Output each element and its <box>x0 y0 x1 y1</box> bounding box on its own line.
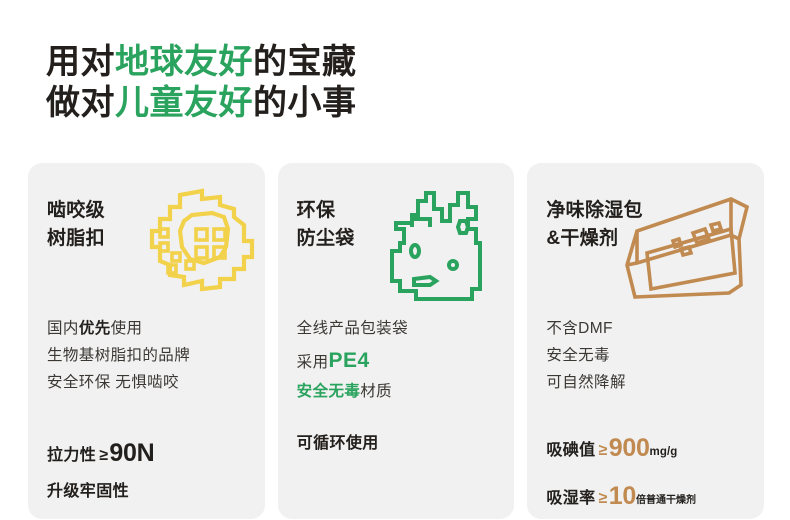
card-1-title: 啮咬级 树脂扣 <box>47 197 105 252</box>
headline-line-1-part-3: 的宝藏 <box>253 43 357 81</box>
card-2-body: 全线产品包装袋 采用PE4 安全无毒材质 <box>297 316 505 406</box>
card-3-stat-row-2: 吸湿率≥10倍普通干燥剂 <box>546 473 754 520</box>
card-3-stat-2-unit: 倍普通干燥剂 <box>636 495 696 506</box>
card-3-body-line-1: 不含DMF <box>546 316 754 343</box>
card-3-stat-2-label: 吸湿率 <box>546 490 595 507</box>
card-3-stat-1-value: 900 <box>609 434 650 462</box>
card-1-stat-value: 90N <box>109 439 154 467</box>
eco-dust-bag-icon <box>356 181 496 318</box>
card-1-body-line-2: 生物基树脂扣的品牌 <box>47 343 255 370</box>
card-1-title-line-2: 树脂扣 <box>47 225 105 253</box>
feature-card-row: 啮咬级 树脂扣 国内优先使用 生物基树脂扣的品牌 安全环保 无惧啮咬 拉力性≥9… <box>28 163 764 519</box>
card-1-body-line-1: 国内优先使用 <box>47 316 255 343</box>
card-3-body: 不含DMF 安全无毒 可自然降解 <box>546 316 754 396</box>
card-2-line-2-seg-1: 采用 <box>297 354 329 371</box>
card-2-material-code: PE4 <box>328 349 369 372</box>
card-1-stat-ge: ≥ <box>99 447 108 464</box>
feature-card-resin-buckle: 啮咬级 树脂扣 国内优先使用 生物基树脂扣的品牌 安全环保 无惧啮咬 拉力性≥9… <box>28 163 265 519</box>
card-2-title-line-1: 环保 <box>297 197 355 225</box>
card-3-title-line-2: &干燥剂 <box>546 225 643 253</box>
feature-card-dehumidifier: 净味除湿包 &干燥剂 不含DMF 安全无毒 可自然降解 吸碘值≥900mg/g … <box>527 163 764 519</box>
card-3-title: 净味除湿包 &干燥剂 <box>546 197 643 252</box>
card-3-title-line-1: 净味除湿包 <box>546 197 643 225</box>
card-1-line-1-seg-1: 国内 <box>47 320 79 337</box>
headline-line-1-part-1: 用对 <box>46 43 115 81</box>
feature-card-dust-bag: 环保 防尘袋 全线产品包装袋 采用PE4 安全无毒材质 可循环使用 <box>278 163 515 519</box>
card-1-stats: 拉力性≥90N 升级牢固性 <box>47 430 255 505</box>
card-2-body-line-1: 全线产品包装袋 <box>297 316 505 343</box>
card-1-body: 国内优先使用 生物基树脂扣的品牌 安全环保 无惧啮咬 <box>47 316 255 396</box>
card-3-stat-2-value: 10 <box>609 482 636 510</box>
card-2-line-3-emphasis: 安全无毒 <box>297 383 361 400</box>
card-2-title-line-2: 防尘袋 <box>297 225 355 253</box>
headline-line-2-part-3: 的小事 <box>253 84 357 122</box>
headline-line-1: 用对地球友好的宝藏 <box>46 42 357 83</box>
card-2-stat-subtitle: 可循环使用 <box>297 430 505 457</box>
card-1-stat-subtitle: 升级牢固性 <box>47 478 255 505</box>
card-2-body-line-2: 采用PE4 <box>297 343 505 379</box>
chew-resistant-resin-buckle-icon <box>140 185 264 308</box>
card-3-stat-2-ge: ≥ <box>599 490 608 507</box>
card-1-body-line-3: 安全环保 无惧啮咬 <box>47 370 255 397</box>
card-3-stat-row-1: 吸碘值≥900mg/g <box>546 425 754 473</box>
card-2-body-line-3: 安全无毒材质 <box>297 379 505 406</box>
card-2-line-3-seg-2: 材质 <box>360 383 392 400</box>
card-1-stat-row: 拉力性≥90N <box>47 430 255 478</box>
card-3-body-line-3: 可自然降解 <box>546 370 754 397</box>
card-3-stat-1-unit: mg/g <box>650 446 678 458</box>
headline-line-2-part-1: 做对 <box>46 84 115 122</box>
card-3-stat-1-ge: ≥ <box>599 442 608 459</box>
headline-line-2: 做对儿童友好的小事 <box>46 83 357 124</box>
card-2-stats: 可循环使用 <box>297 430 505 457</box>
page-headline: 用对地球友好的宝藏 做对儿童友好的小事 <box>46 42 357 125</box>
card-1-line-1-seg-3: 使用 <box>111 320 143 337</box>
card-3-stats: 吸碘值≥900mg/g 吸湿率≥10倍普通干燥剂 <box>546 425 754 519</box>
card-2-title: 环保 防尘袋 <box>297 197 355 252</box>
headline-line-2-accent: 儿童友好 <box>115 84 253 122</box>
card-3-stat-1-label: 吸碘值 <box>546 442 595 459</box>
card-1-title-line-1: 啮咬级 <box>47 197 105 225</box>
card-3-body-line-2: 安全无毒 <box>546 343 754 370</box>
card-1-line-1-emphasis: 优先 <box>79 320 111 337</box>
headline-line-1-accent: 地球友好 <box>115 43 253 81</box>
card-1-stat-label: 拉力性 <box>47 447 96 464</box>
